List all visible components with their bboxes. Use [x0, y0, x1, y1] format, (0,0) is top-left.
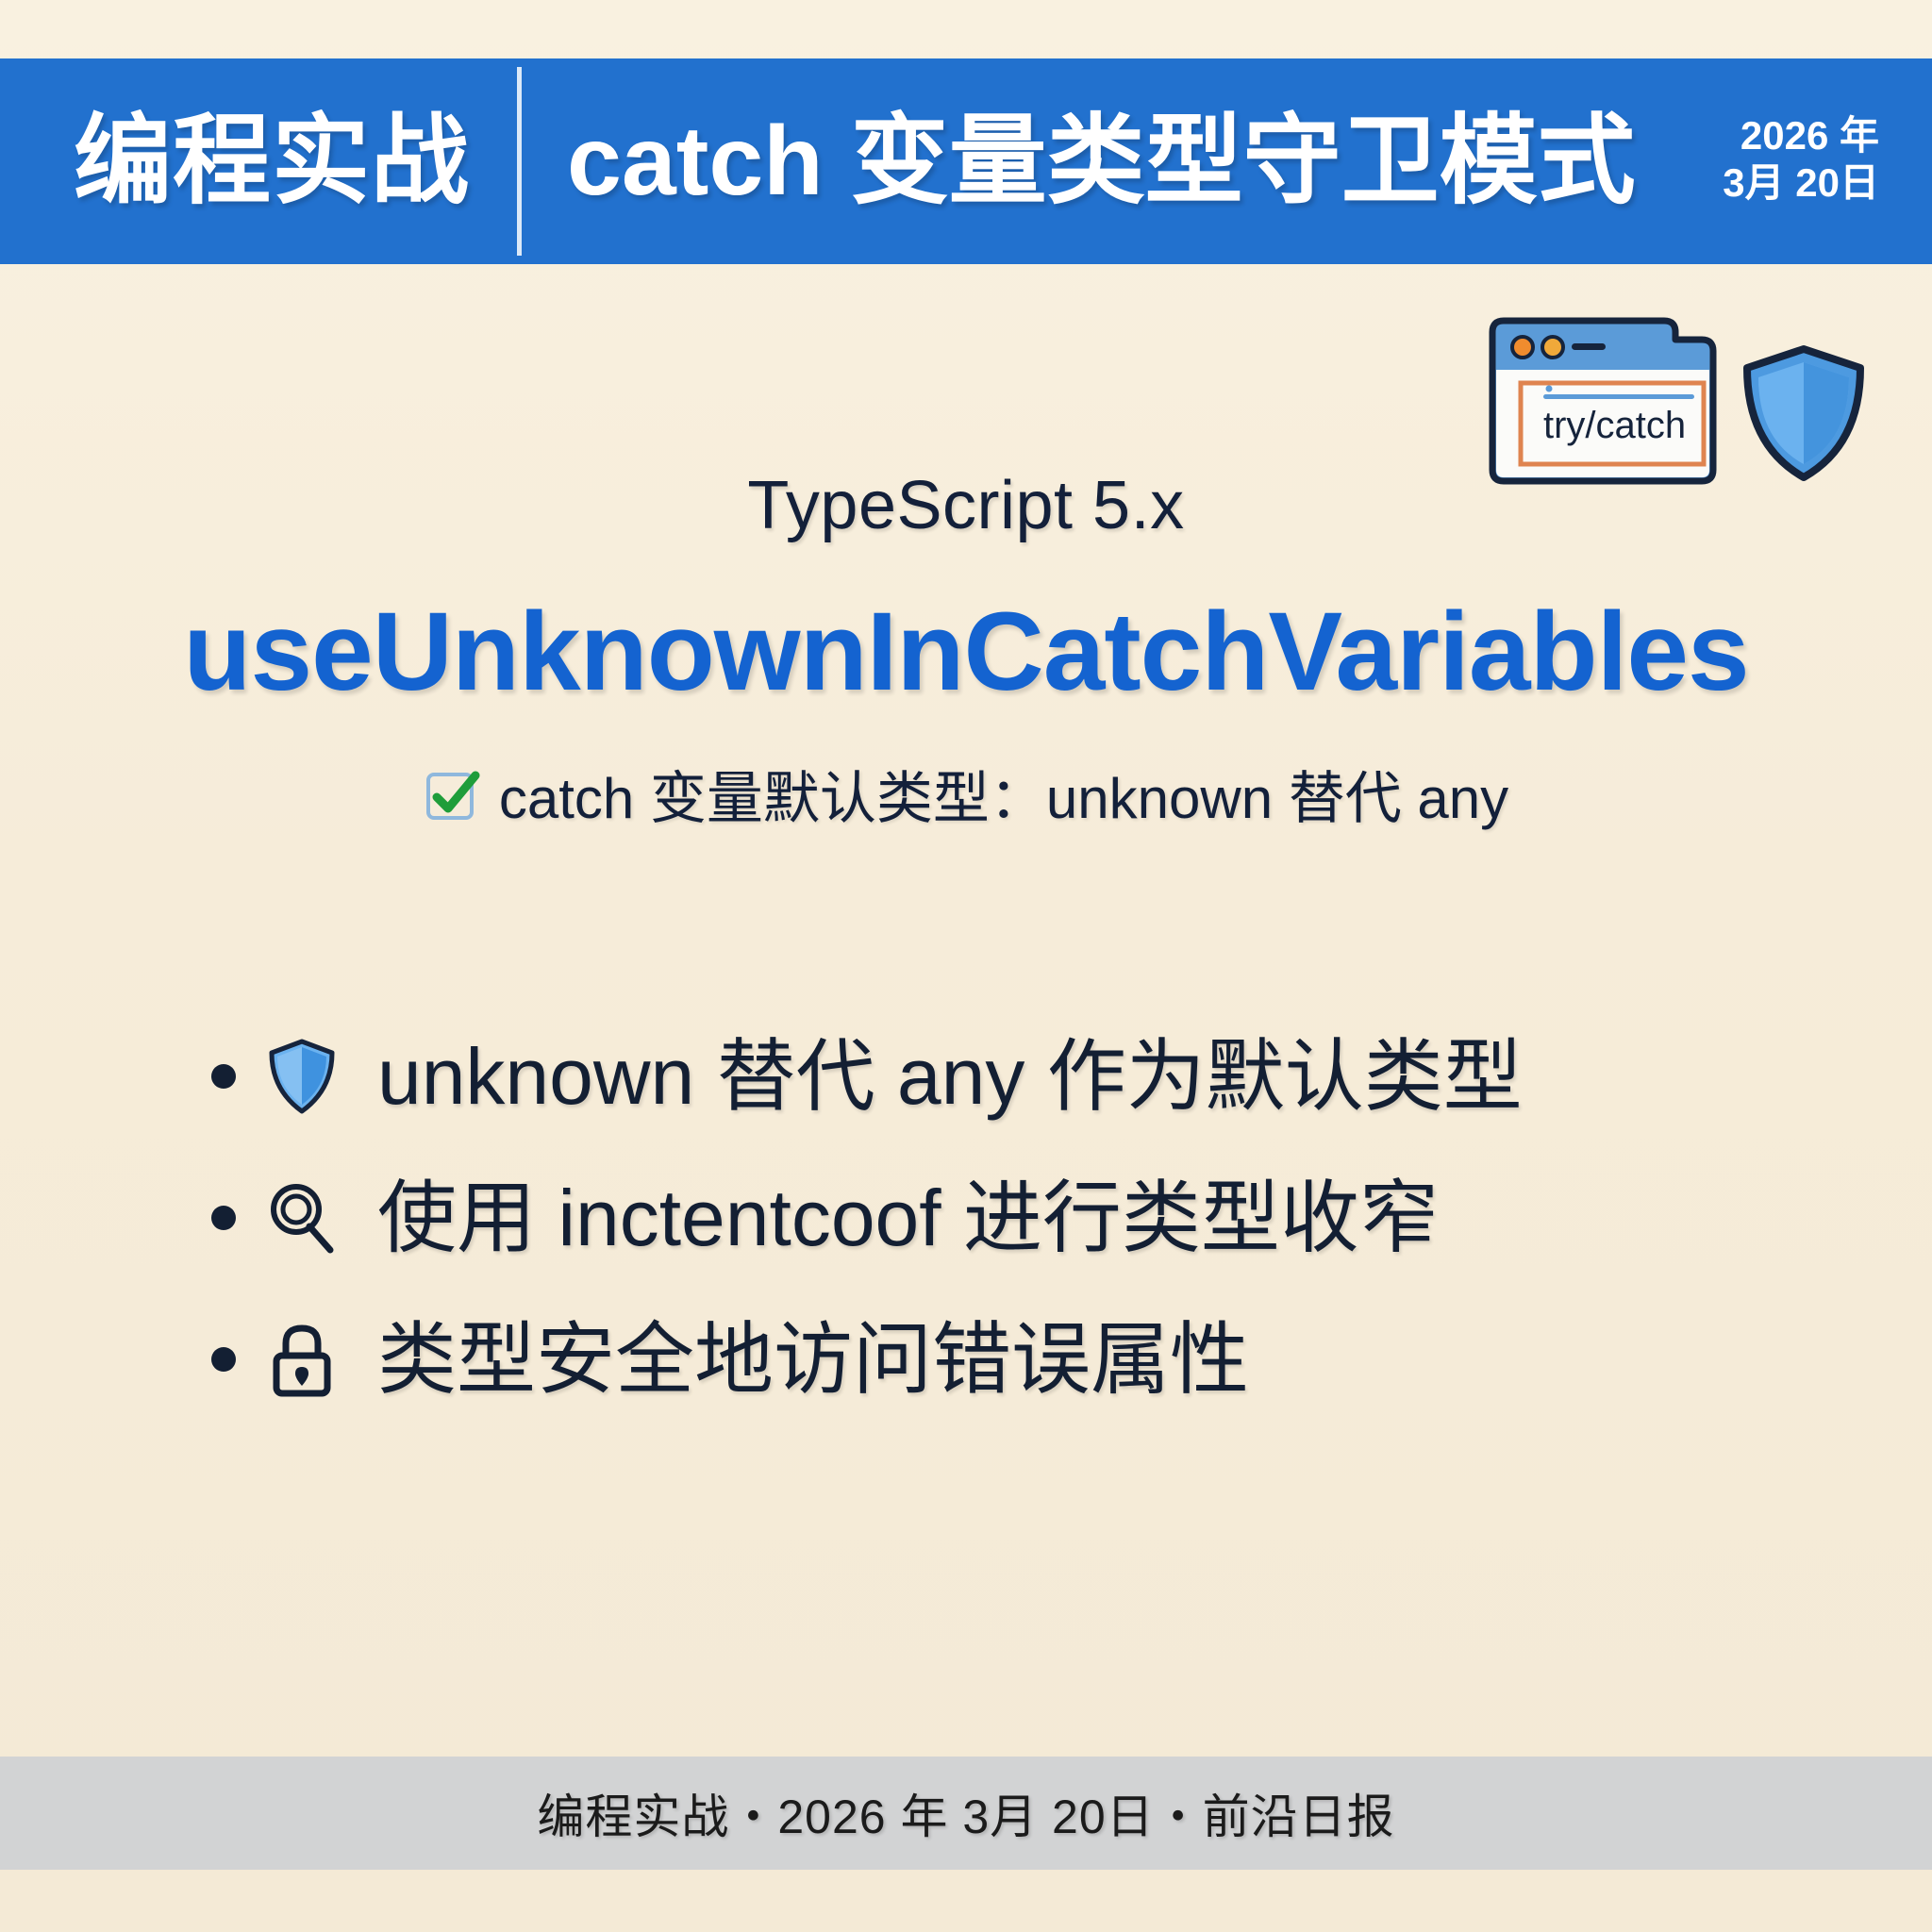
feature-title: useUnknownInCatchVariables [0, 596, 1932, 708]
header-date-year: 2026 年 [1723, 112, 1879, 159]
list-item-label: unknown 替代 any 作为默认类型 [377, 1037, 1523, 1116]
header-date-day: 3月 20日 [1723, 159, 1879, 207]
list-item-label: 类型安全地访问错误属性 [377, 1320, 1249, 1399]
eyebrow-label: TypeScript 5.x [0, 472, 1932, 540]
poster-canvas: 编程实战 catch 变量类型守卫模式 2026 年 3月 20日 try/ca… [0, 0, 1932, 1932]
list-item-label: 使用 inctentcoof 进行类型收窄 [377, 1178, 1439, 1257]
page-title: catch 变量类型守卫模式 [567, 112, 1723, 210]
lock-icon [262, 1320, 341, 1399]
list-item: 类型安全地访问错误属性 [211, 1289, 1932, 1430]
main-content: TypeScript 5.x useUnknownInCatchVariable… [0, 283, 1932, 1430]
bullet-dot [211, 1206, 236, 1230]
header-band: 编程实战 catch 变量类型守卫模式 2026 年 3月 20日 [0, 58, 1932, 264]
footer-text: 编程实战・2026 年 3月 20日・前沿日报 [537, 1779, 1394, 1847]
magnifier-icon [262, 1178, 341, 1257]
bullet-list: unknown 替代 any 作为默认类型 使用 inctentcoof 进行类… [0, 1006, 1932, 1430]
list-item: unknown 替代 any 作为默认类型 [211, 1006, 1932, 1147]
header-date: 2026 年 3月 20日 [1723, 112, 1879, 209]
header-brand: 编程实战 [74, 112, 470, 210]
bullet-dot [211, 1064, 236, 1089]
shield-icon [262, 1037, 341, 1116]
list-item: 使用 inctentcoof 进行类型收窄 [211, 1147, 1932, 1289]
subtitle-text: catch 变量默认类型：unknown 替代 any [499, 771, 1508, 827]
checkbox-checked-icon [424, 768, 482, 826]
subtitle-row: catch 变量默认类型：unknown 替代 any [0, 770, 1932, 828]
header-divider [517, 67, 522, 256]
footer-band: 编程实战・2026 年 3月 20日・前沿日报 [0, 1757, 1932, 1870]
bullet-dot [211, 1347, 236, 1372]
